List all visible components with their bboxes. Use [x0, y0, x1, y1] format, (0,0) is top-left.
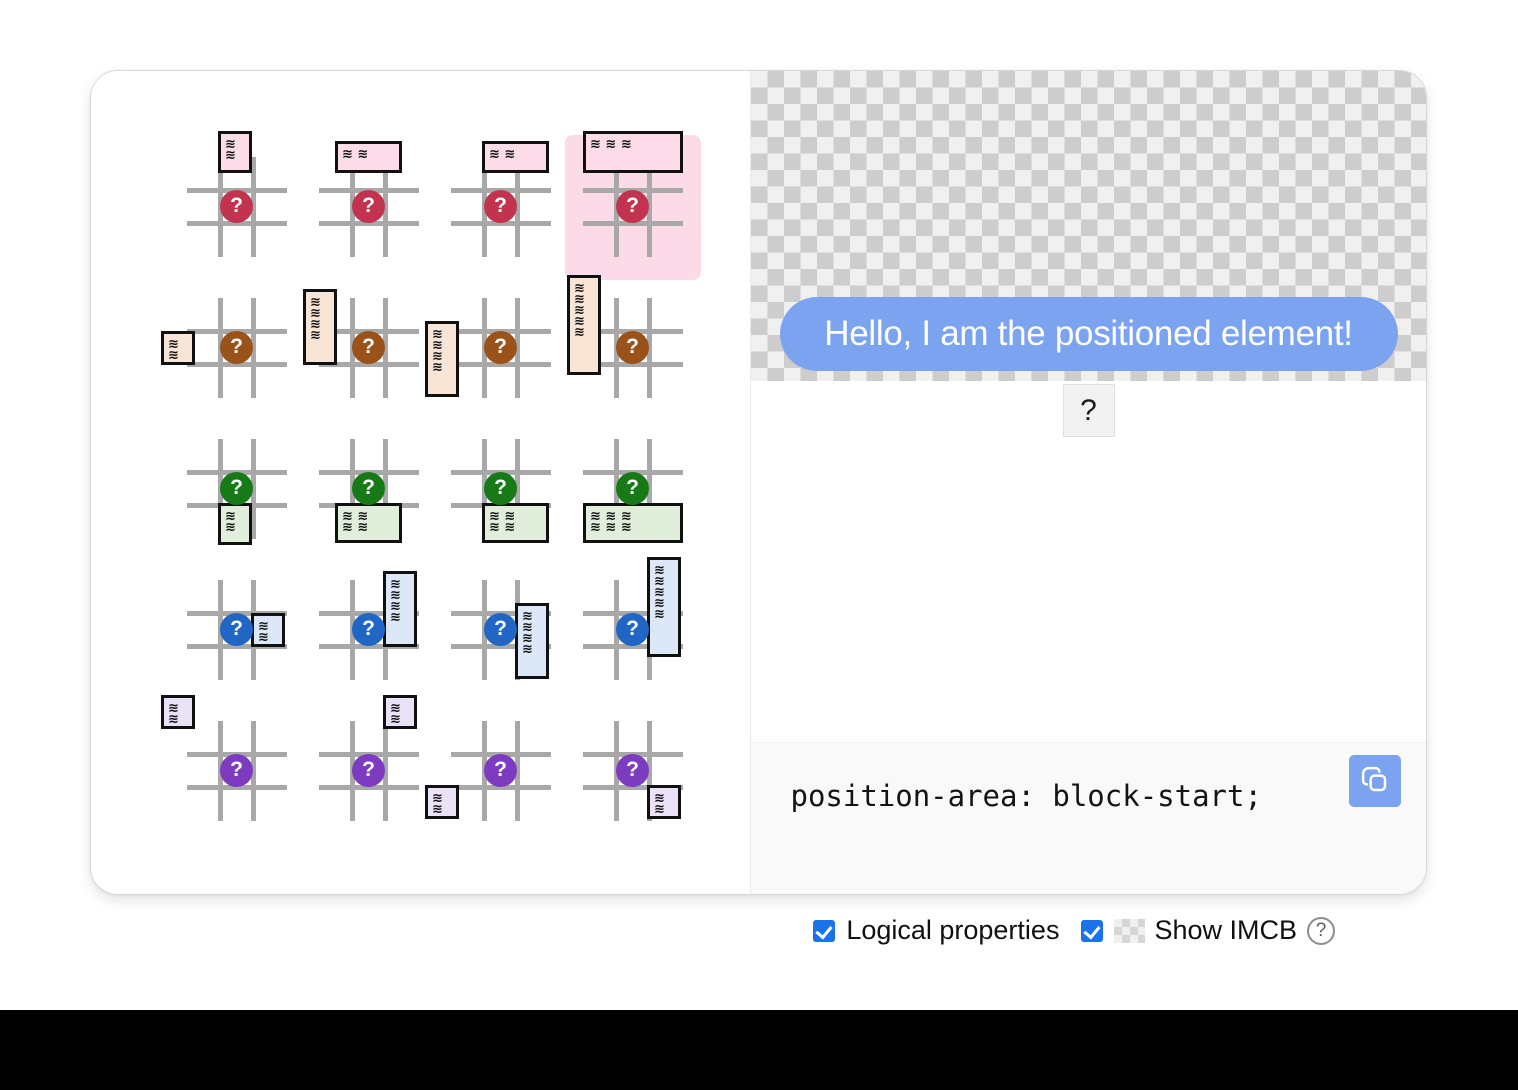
position-area-option[interactable]: ≋≋≋≋? — [435, 278, 567, 419]
option-anchor-marker: ? — [352, 613, 385, 646]
tictactoe-grid: ≋≋? — [451, 721, 551, 821]
text-squiggle: ≋ — [225, 522, 245, 533]
tictactoe-grid: ≋ ≋ ≋≋ ≋ ≋? — [583, 439, 683, 539]
help-icon[interactable]: ? — [1307, 917, 1335, 945]
tictactoe-grid: ≋ ≋≋ ≋? — [451, 439, 551, 539]
text-squiggle: ≋ ≋ — [489, 522, 542, 533]
anchor-element[interactable]: ? — [1063, 384, 1115, 437]
text-squiggle: ≋ — [168, 714, 188, 725]
option-anchor-marker: ? — [220, 190, 253, 223]
option-positioned-box: ≋≋ — [161, 331, 195, 365]
position-area-option[interactable]: ≋ ≋? — [303, 137, 435, 278]
position-area-option[interactable]: ≋ ≋≋ ≋? — [303, 419, 435, 560]
position-area-option[interactable]: ≋≋≋≋≋? — [567, 278, 699, 419]
code-panel: position-area: block-start; — [751, 742, 1427, 894]
option-anchor-marker: ? — [616, 613, 649, 646]
option-anchor-marker: ? — [484, 613, 517, 646]
position-area-option[interactable]: ≋ ≋≋ ≋? — [435, 419, 567, 560]
option-positioned-box: ≋ ≋ ≋≋ ≋ ≋ — [583, 503, 683, 543]
position-area-visualizer-card: ≋≋?≋ ≋?≋ ≋?≋ ≋ ≋?≋≋?≋≋≋≋?≋≋≋≋?≋≋≋≋≋?≋≋?≋… — [90, 70, 1427, 895]
tictactoe-grid: ≋≋≋≋? — [451, 298, 551, 398]
option-anchor-marker: ? — [616, 754, 649, 787]
option-positioned-box: ≋ ≋ — [335, 141, 402, 173]
option-anchor-marker: ? — [220, 754, 253, 787]
option-positioned-box: ≋≋≋≋ — [303, 289, 337, 365]
option-anchor-marker: ? — [220, 331, 253, 364]
tictactoe-grid: ≋≋? — [187, 580, 287, 680]
tictactoe-grid: ≋≋? — [187, 157, 287, 257]
option-anchor-marker: ? — [352, 754, 385, 787]
tictactoe-grid: ≋≋? — [187, 298, 287, 398]
tictactoe-grid: ≋≋? — [583, 721, 683, 821]
tictactoe-grid: ≋ ≋? — [319, 157, 419, 257]
text-squiggle: ≋ ≋ — [342, 522, 395, 533]
position-area-option[interactable]: ≋ ≋? — [435, 137, 567, 278]
tictactoe-grid: ≋≋? — [187, 439, 287, 539]
text-squiggle: ≋ ≋ — [342, 149, 395, 160]
show-imcb-checkbox[interactable] — [1081, 920, 1103, 942]
position-area-option[interactable]: ≋≋? — [171, 278, 303, 419]
text-squiggle: ≋ — [168, 350, 188, 361]
option-positioned-box: ≋≋ — [251, 613, 285, 647]
position-area-option[interactable]: ≋≋≋≋? — [303, 560, 435, 701]
option-positioned-box: ≋≋≋≋ — [515, 603, 549, 679]
text-squiggle: ≋ — [654, 609, 674, 620]
text-squiggle: ≋ — [310, 330, 330, 341]
position-area-option[interactable]: ≋ ≋ ≋≋ ≋ ≋? — [567, 419, 699, 560]
position-area-option[interactable]: ≋≋≋≋? — [435, 560, 567, 701]
option-positioned-box: ≋ ≋ ≋ — [583, 131, 683, 173]
tictactoe-grid: ≋ ≋≋ ≋? — [319, 439, 419, 539]
text-squiggle: ≋ — [390, 612, 410, 623]
tictactoe-grid: ≋≋≋≋? — [451, 580, 551, 680]
tictactoe-grid: ≋≋≋≋? — [319, 580, 419, 680]
position-area-option[interactable]: ≋≋? — [171, 560, 303, 701]
text-squiggle: ≋ ≋ ≋ — [590, 522, 676, 533]
option-positioned-box: ≋≋ — [161, 695, 195, 729]
text-squiggle: ≋ ≋ ≋ — [590, 139, 676, 150]
option-positioned-box: ≋≋ — [425, 785, 459, 819]
option-anchor-marker: ? — [616, 190, 649, 223]
tictactoe-grid: ≋≋? — [319, 721, 419, 821]
logical-properties-checkbox[interactable] — [813, 920, 835, 942]
show-imcb-label[interactable]: Show IMCB — [1154, 915, 1297, 946]
position-area-option[interactable]: ≋≋? — [171, 419, 303, 560]
imcb-checkerboard-swatch — [1114, 919, 1145, 943]
text-squiggle: ≋ — [432, 804, 452, 815]
option-anchor-marker: ? — [220, 613, 253, 646]
text-squiggle: ≋ — [390, 714, 410, 725]
tictactoe-grid: ≋≋≋≋? — [319, 298, 419, 398]
option-positioned-box: ≋≋≋≋ — [425, 321, 459, 397]
position-area-option[interactable]: ≋≋≋≋? — [303, 278, 435, 419]
option-anchor-marker: ? — [484, 190, 517, 223]
positioned-element: Hello, I am the positioned element! — [780, 297, 1398, 371]
option-positioned-box: ≋ ≋ — [482, 141, 549, 173]
text-squiggle: ≋ — [574, 327, 594, 338]
option-anchor-marker: ? — [352, 472, 385, 505]
logical-properties-label[interactable]: Logical properties — [846, 915, 1059, 946]
option-positioned-box: ≋≋ — [383, 695, 417, 729]
option-positioned-box: ≋ ≋≋ ≋ — [335, 503, 402, 543]
text-squiggle: ≋ — [654, 804, 674, 815]
position-area-option[interactable]: ≋≋? — [171, 701, 303, 842]
position-area-grid-pane: ≋≋?≋ ≋?≋ ≋?≋ ≋ ≋?≋≋?≋≋≋≋?≋≋≋≋?≋≋≋≋≋?≋≋?≋… — [91, 71, 751, 894]
position-area-option[interactable]: ≋ ≋ ≋? — [567, 137, 699, 278]
text-squiggle: ≋ — [432, 362, 452, 373]
tictactoe-grid: ≋≋≋≋≋? — [583, 298, 683, 398]
preview-pane: Hello, I am the positioned element! ? po… — [751, 71, 1427, 894]
tictactoe-grid: ≋≋≋≋≋? — [583, 580, 683, 680]
option-positioned-box: ≋ ≋≋ ≋ — [482, 503, 549, 543]
position-area-option[interactable]: ≋≋≋≋≋? — [567, 560, 699, 701]
tictactoe-grid: ≋ ≋? — [451, 157, 551, 257]
position-area-option[interactable]: ≋≋? — [303, 701, 435, 842]
position-area-option[interactable]: ≋≋? — [171, 137, 303, 278]
option-positioned-box: ≋≋≋≋≋ — [567, 275, 601, 375]
option-anchor-marker: ? — [352, 331, 385, 364]
option-positioned-box: ≋≋≋≋≋ — [647, 557, 681, 657]
option-positioned-box: ≋≋ — [218, 503, 252, 545]
option-anchor-marker: ? — [616, 331, 649, 364]
option-anchor-marker: ? — [484, 754, 517, 787]
position-area-option[interactable]: ≋≋? — [435, 701, 567, 842]
footer-controls: Logical properties Show IMCB ? — [0, 915, 1427, 946]
option-anchor-marker: ? — [352, 190, 385, 223]
tictactoe-grid: ≋≋? — [187, 721, 287, 821]
tictactoe-grid: ≋ ≋ ≋? — [583, 157, 683, 257]
position-area-grid: ≋≋?≋ ≋?≋ ≋?≋ ≋ ≋?≋≋?≋≋≋≋?≋≋≋≋?≋≋≋≋≋?≋≋?≋… — [171, 137, 701, 842]
text-squiggle: ≋ — [258, 632, 278, 643]
css-declaration: position-area: block-start; — [791, 779, 1262, 813]
option-positioned-box: ≋≋ — [647, 785, 681, 819]
option-positioned-box: ≋≋≋≋ — [383, 571, 417, 647]
option-anchor-marker: ? — [484, 331, 517, 364]
option-anchor-marker: ? — [616, 472, 649, 505]
text-squiggle: ≋ — [522, 644, 542, 655]
option-positioned-box: ≋≋ — [218, 131, 252, 173]
text-squiggle: ≋ ≋ — [489, 149, 542, 160]
text-squiggle: ≋ — [225, 150, 245, 161]
copy-button[interactable] — [1349, 755, 1401, 807]
option-anchor-marker: ? — [220, 472, 253, 505]
screen-bottom-band — [0, 1010, 1518, 1090]
position-area-option[interactable]: ≋≋? — [567, 701, 699, 842]
option-anchor-marker: ? — [484, 472, 517, 505]
copy-icon — [1360, 765, 1390, 798]
